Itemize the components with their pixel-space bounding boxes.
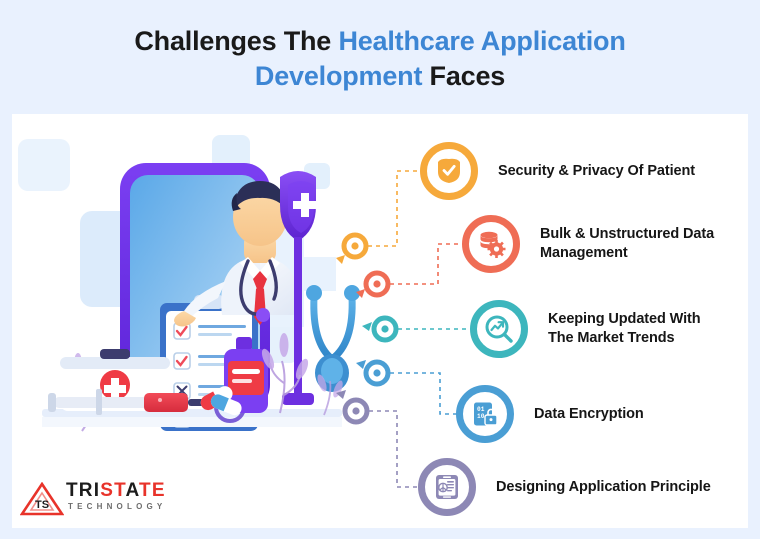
mobile-design-icon: [418, 458, 476, 516]
logo-subtitle: TECHNOLOGY: [68, 502, 166, 511]
company-logo[interactable]: TS TRISTATE TECHNOLOGY: [20, 480, 200, 526]
logo-part-a: A: [126, 480, 140, 501]
list-item-label: Designing Application Principle: [496, 478, 736, 497]
doctor-healthcare-illustration: [12, 125, 372, 525]
shield-check-icon: [420, 142, 478, 200]
svg-text:10: 10: [477, 413, 485, 420]
list-item-designing-application[interactable]: Designing Application Principle: [418, 458, 736, 516]
svg-text:01: 01: [477, 406, 485, 413]
data-lock-icon: 01 10: [456, 385, 514, 443]
list-item-bulk-data[interactable]: Bulk & Unstructured Data Management: [462, 215, 740, 273]
title-segment-2: Faces: [422, 61, 505, 91]
list-item-data-encryption[interactable]: 01 10 Data Encryption: [456, 385, 714, 443]
list-item-label: Data Encryption: [534, 405, 714, 424]
list-item-security-privacy[interactable]: Security & Privacy Of Patient: [420, 142, 734, 200]
infographic-canvas: Challenges The Healthcare Application De…: [0, 0, 760, 539]
logo-part-st: ST: [100, 480, 125, 501]
logo-mark-text: TS: [35, 499, 49, 511]
logo-wordmark: TRISTATE: [66, 480, 166, 502]
title-highlight-1: Healthcare Application: [338, 26, 625, 56]
list-item-label: Keeping Updated With The Market Trends: [548, 310, 728, 348]
logo-part-tri: TRI: [66, 480, 100, 501]
logo-triangle-mark: TS: [20, 482, 64, 516]
magnifier-trend-icon: [470, 300, 528, 358]
list-item-label: Security & Privacy Of Patient: [498, 162, 734, 181]
list-item-label: Bulk & Unstructured Data Management: [540, 225, 740, 263]
title-segment-1: Challenges The: [134, 26, 338, 56]
logo-part-te: TE: [139, 480, 166, 501]
title-highlight-2: Development: [255, 61, 422, 91]
page-title: Challenges The Healthcare Application De…: [0, 24, 760, 94]
list-item-market-trends[interactable]: Keeping Updated With The Market Trends: [470, 300, 728, 358]
database-gear-icon: [462, 215, 520, 273]
